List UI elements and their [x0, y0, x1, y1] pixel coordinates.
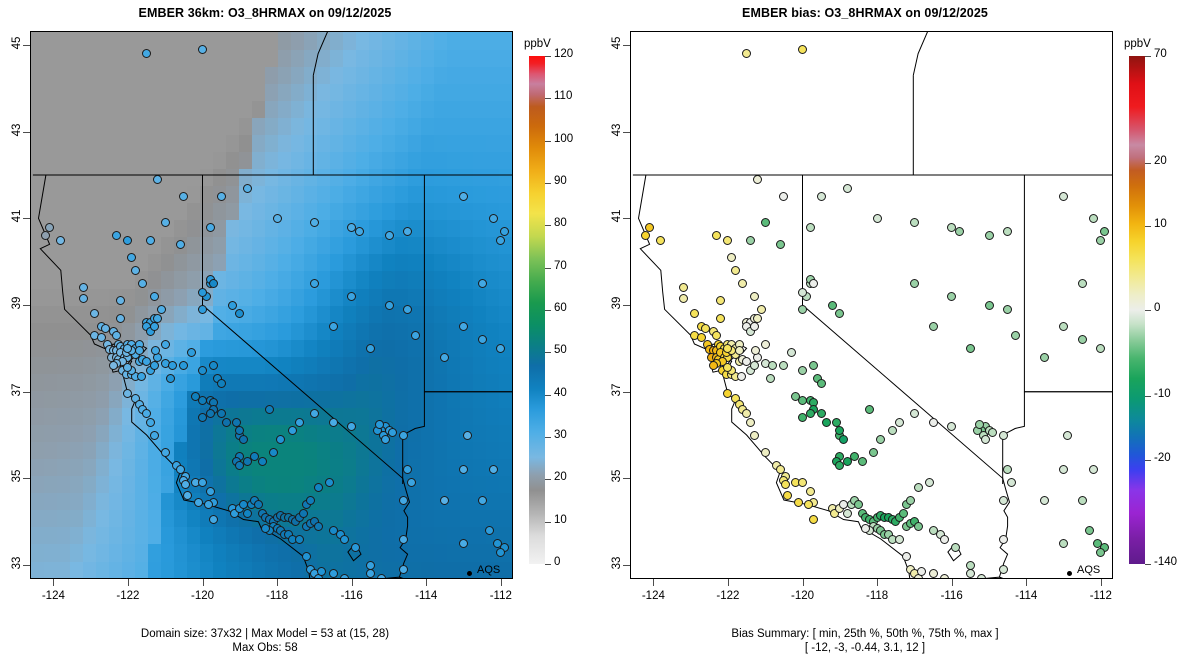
- station-marker[interactable]: [737, 372, 746, 381]
- x-axis-tick-label: -120: [173, 590, 233, 602]
- station-marker[interactable]: [709, 361, 718, 370]
- x-axis-tick: [426, 579, 427, 586]
- station-marker[interactable]: [843, 184, 852, 193]
- station-marker[interactable]: [269, 448, 278, 457]
- station-marker[interactable]: [899, 509, 908, 518]
- colorbar-tick: [545, 225, 551, 226]
- station-marker[interactable]: [329, 418, 338, 427]
- colorbar-tick: [1145, 226, 1151, 227]
- station-marker[interactable]: [198, 288, 207, 297]
- colorbar-tick: [545, 141, 551, 142]
- station-marker[interactable]: [679, 283, 688, 292]
- station-marker[interactable]: [340, 535, 349, 544]
- station-marker[interactable]: [925, 478, 934, 487]
- station-marker[interactable]: [929, 569, 938, 578]
- station-marker[interactable]: [895, 535, 904, 544]
- ca-nv-border: [203, 175, 403, 484]
- station-marker[interactable]: [888, 426, 897, 435]
- map-boundaries-bias: [631, 32, 1112, 578]
- station-marker[interactable]: [985, 301, 994, 310]
- station-marker[interactable]: [232, 418, 241, 427]
- x-axis-tick: [277, 579, 278, 586]
- station-marker[interactable]: [150, 361, 159, 370]
- station-marker[interactable]: [489, 214, 498, 223]
- station-marker[interactable]: [399, 431, 408, 440]
- station-marker[interactable]: [407, 478, 416, 487]
- station-marker[interactable]: [478, 335, 487, 344]
- station-marker[interactable]: [865, 405, 874, 414]
- station-marker[interactable]: [929, 418, 938, 427]
- az-south-border: [999, 577, 1112, 579]
- station-marker[interactable]: [310, 409, 319, 418]
- station-marker[interactable]: [329, 322, 338, 331]
- station-marker[interactable]: [761, 340, 770, 349]
- colorbar-tick: [545, 479, 551, 480]
- station-marker[interactable]: [146, 236, 155, 245]
- station-marker[interactable]: [804, 500, 813, 509]
- station-marker[interactable]: [131, 266, 140, 275]
- colorbar-unit-bias: ppbV: [1124, 38, 1151, 50]
- station-marker[interactable]: [1085, 526, 1094, 535]
- y-axis-tick-label: 33: [11, 543, 23, 583]
- station-marker[interactable]: [194, 498, 203, 507]
- station-marker[interactable]: [757, 305, 766, 314]
- station-marker[interactable]: [1007, 478, 1016, 487]
- station-marker[interactable]: [243, 184, 252, 193]
- station-marker[interactable]: [366, 344, 375, 353]
- x-axis-tick: [803, 579, 804, 586]
- station-marker[interactable]: [228, 301, 237, 310]
- station-marker[interactable]: [347, 422, 356, 431]
- station-marker[interactable]: [217, 409, 226, 418]
- station-marker[interactable]: [347, 292, 356, 301]
- station-marker[interactable]: [440, 496, 449, 505]
- station-marker[interactable]: [157, 305, 166, 314]
- station-marker[interactable]: [127, 253, 136, 262]
- station-marker[interactable]: [314, 522, 323, 531]
- station-marker[interactable]: [975, 420, 984, 429]
- station-marker[interactable]: [399, 535, 408, 544]
- y-axis-tick-label: 39: [11, 283, 23, 323]
- panel-bias: EMBER bias: O3_8HRMAX on 09/12/2025 AQS …: [600, 0, 1200, 672]
- station-marker[interactable]: [873, 214, 882, 223]
- station-marker[interactable]: [150, 322, 159, 331]
- station-marker[interactable]: [1096, 236, 1105, 245]
- station-marker[interactable]: [478, 496, 487, 505]
- station-marker[interactable]: [750, 292, 759, 301]
- station-marker[interactable]: [645, 223, 654, 232]
- station-marker[interactable]: [258, 457, 267, 466]
- station-marker[interactable]: [966, 569, 975, 578]
- station-marker[interactable]: [828, 301, 837, 310]
- station-marker[interactable]: [947, 292, 956, 301]
- colorbar-tick-label: 120: [554, 48, 573, 60]
- station-marker[interactable]: [776, 240, 785, 249]
- y-axis-tick: [623, 45, 630, 46]
- colorbar-tick-label: 110: [554, 90, 572, 102]
- station-marker[interactable]: [750, 322, 759, 331]
- station-marker[interactable]: [895, 418, 904, 427]
- station-marker[interactable]: [45, 223, 54, 232]
- x-axis-tick-label: -112: [1071, 590, 1131, 602]
- station-marker[interactable]: [731, 266, 740, 275]
- station-marker[interactable]: [727, 253, 736, 262]
- aqs-legend-label: AQS: [477, 564, 500, 576]
- colorbar-tick-label: 0: [1154, 302, 1160, 314]
- station-marker[interactable]: [206, 487, 215, 496]
- station-marker[interactable]: [217, 379, 226, 388]
- station-marker[interactable]: [403, 305, 412, 314]
- station-marker[interactable]: [1078, 335, 1087, 344]
- caption-bias-line1: Bias Summary: [ min, 25th %, 50th %, 75t…: [600, 627, 1130, 641]
- map-boundaries-model: [31, 32, 512, 578]
- x-axis-tick: [728, 579, 729, 586]
- station-marker[interactable]: [656, 236, 665, 245]
- colorbar-tick-label: 10: [554, 514, 567, 526]
- station-marker[interactable]: [854, 500, 863, 509]
- station-marker[interactable]: [198, 366, 207, 375]
- colorbar-tick: [1145, 396, 1151, 397]
- station-marker[interactable]: [817, 192, 826, 201]
- nv-ut-border: [1024, 175, 1113, 392]
- y-axis-tick-label: 43: [11, 110, 23, 150]
- station-marker[interactable]: [910, 409, 919, 418]
- station-marker[interactable]: [1096, 548, 1105, 557]
- colorbar-tick: [545, 183, 551, 184]
- station-marker[interactable]: [761, 218, 770, 227]
- station-marker[interactable]: [142, 409, 151, 418]
- y-axis-tick-label: 41: [611, 196, 623, 236]
- y-axis-tick-label: 39: [611, 283, 623, 323]
- x-axis-tick-label: -114: [396, 590, 456, 602]
- y-axis-tick-label: 37: [11, 370, 23, 410]
- station-marker[interactable]: [753, 314, 762, 323]
- station-marker[interactable]: [750, 431, 759, 440]
- x-axis-tick: [53, 579, 54, 586]
- colorado-river: [999, 478, 1009, 577]
- y-axis-tick-label: 35: [611, 456, 623, 496]
- colorbar-tick: [545, 352, 551, 353]
- colorbar-tick-label: -20: [1154, 452, 1171, 464]
- az-south-border: [399, 577, 512, 579]
- station-marker[interactable]: [679, 294, 688, 303]
- station-marker[interactable]: [869, 448, 878, 457]
- station-marker[interactable]: [485, 526, 494, 535]
- station-marker[interactable]: [56, 236, 65, 245]
- station-marker[interactable]: [496, 236, 505, 245]
- colorbar-tick-label: 60: [554, 302, 567, 314]
- colorbar-tick: [545, 56, 551, 57]
- station-marker[interactable]: [999, 431, 1008, 440]
- colorbar-tick: [545, 522, 551, 523]
- station-marker[interactable]: [832, 418, 841, 427]
- colorbar-tick-label: 70: [1154, 48, 1167, 60]
- station-marker[interactable]: [161, 218, 170, 227]
- colorbar-tick-label: 90: [554, 175, 567, 187]
- station-marker[interactable]: [794, 498, 803, 507]
- station-marker[interactable]: [787, 348, 796, 357]
- aqs-legend-dot: [467, 571, 472, 576]
- caption-bias-line2: [ -12, -3, -0.44, 3.1, 12 ]: [600, 641, 1130, 655]
- station-marker[interactable]: [947, 422, 956, 431]
- colorbar-tick: [1145, 310, 1151, 311]
- station-marker[interactable]: [288, 426, 297, 435]
- station-marker[interactable]: [375, 420, 384, 429]
- station-marker[interactable]: [999, 496, 1008, 505]
- x-axis-tick-label: -116: [922, 590, 982, 602]
- x-axis-tick-label: -116: [322, 590, 382, 602]
- panel-title-model: EMBER 36km: O3_8HRMAX on 09/12/2025: [0, 6, 530, 20]
- colorbar-tick: [1145, 564, 1151, 565]
- station-marker[interactable]: [206, 223, 215, 232]
- colorbar-tick-label: 40: [554, 387, 567, 399]
- station-marker[interactable]: [198, 45, 207, 54]
- x-axis-tick: [1101, 579, 1102, 586]
- station-marker[interactable]: [1078, 279, 1087, 288]
- station-marker[interactable]: [746, 418, 755, 427]
- station-marker[interactable]: [381, 435, 390, 444]
- station-marker[interactable]: [914, 522, 923, 531]
- colorbar-model: [529, 56, 545, 564]
- nv-ut-border: [424, 175, 513, 392]
- station-marker[interactable]: [79, 283, 88, 292]
- colorbar-tick-label: 80: [554, 217, 567, 229]
- station-marker[interactable]: [1078, 496, 1087, 505]
- y-axis-tick-label: 35: [11, 456, 23, 496]
- station-marker[interactable]: [966, 561, 975, 570]
- colorbar-tick-label: 100: [554, 133, 573, 145]
- colorbar-tick-label: 20: [1154, 155, 1167, 167]
- map-plot-bias[interactable]: AQS: [630, 31, 1113, 579]
- station-marker[interactable]: [135, 346, 144, 355]
- station-marker[interactable]: [222, 418, 231, 427]
- station-marker[interactable]: [761, 448, 770, 457]
- station-marker[interactable]: [1003, 227, 1012, 236]
- station-marker[interactable]: [817, 409, 826, 418]
- x-axis-tick: [952, 579, 953, 586]
- station-marker[interactable]: [306, 496, 315, 505]
- y-axis-tick: [23, 565, 30, 566]
- station-marker[interactable]: [798, 366, 807, 375]
- station-marker[interactable]: [798, 288, 807, 297]
- station-marker[interactable]: [377, 574, 386, 580]
- panel-model: EMBER 36km: O3_8HRMAX on 09/12/2025 AQS …: [0, 0, 600, 672]
- station-marker[interactable]: [411, 331, 420, 340]
- y-axis-tick: [623, 478, 630, 479]
- station-marker[interactable]: [79, 294, 88, 303]
- station-marker[interactable]: [161, 448, 170, 457]
- x-axis-tick: [203, 579, 204, 586]
- x-axis-tick-label: -122: [698, 590, 758, 602]
- colorbar-tick: [545, 564, 551, 565]
- station-marker[interactable]: [209, 279, 218, 288]
- station-marker[interactable]: [1100, 227, 1109, 236]
- station-marker[interactable]: [150, 292, 159, 301]
- x-axis-tick-label: -118: [847, 590, 907, 602]
- y-axis-tick: [623, 132, 630, 133]
- station-marker[interactable]: [1040, 353, 1049, 362]
- x-axis-tick: [877, 579, 878, 586]
- station-marker[interactable]: [496, 548, 505, 557]
- station-marker[interactable]: [403, 227, 412, 236]
- y-axis-tick-label: 43: [611, 110, 623, 150]
- figure-canvas: EMBER 36km: O3_8HRMAX on 09/12/2025 AQS …: [0, 0, 1200, 672]
- or-id-border-2: [313, 31, 333, 75]
- station-marker[interactable]: [340, 574, 349, 580]
- colorbar-tick: [1145, 460, 1151, 461]
- station-marker[interactable]: [735, 346, 744, 355]
- station-marker[interactable]: [217, 192, 226, 201]
- y-axis-tick: [623, 565, 630, 566]
- caption-model-line2: Max Obs: 58: [0, 641, 530, 655]
- y-axis-tick: [23, 392, 30, 393]
- station-marker[interactable]: [806, 223, 815, 232]
- x-axis-tick-label: -124: [623, 590, 683, 602]
- station-marker[interactable]: [723, 236, 732, 245]
- station-marker[interactable]: [137, 372, 146, 381]
- x-axis-tick: [653, 579, 654, 586]
- station-marker[interactable]: [273, 214, 282, 223]
- ca-nv-border: [803, 175, 1003, 484]
- station-marker[interactable]: [176, 240, 185, 249]
- station-marker[interactable]: [981, 435, 990, 444]
- station-marker[interactable]: [1011, 331, 1020, 340]
- x-axis-tick: [128, 579, 129, 586]
- station-marker[interactable]: [1089, 214, 1098, 223]
- colorbar-tick: [545, 437, 551, 438]
- x-axis-tick-label: -122: [98, 590, 158, 602]
- station-marker[interactable]: [116, 314, 125, 323]
- station-marker[interactable]: [310, 279, 319, 288]
- colorado-river: [399, 478, 409, 577]
- station-marker[interactable]: [153, 314, 162, 323]
- station-marker[interactable]: [187, 348, 196, 357]
- station-marker[interactable]: [906, 496, 915, 505]
- station-marker[interactable]: [1040, 496, 1049, 505]
- station-marker[interactable]: [299, 509, 308, 518]
- map-plot-model[interactable]: AQS: [30, 31, 513, 579]
- station-marker[interactable]: [399, 496, 408, 505]
- station-marker[interactable]: [955, 227, 964, 236]
- x-axis-tick: [352, 579, 353, 586]
- station-marker[interactable]: [910, 279, 919, 288]
- station-marker[interactable]: [742, 409, 751, 418]
- colorbar-tick-label: -140: [1154, 556, 1177, 568]
- y-axis-tick: [23, 478, 30, 479]
- x-axis-tick: [501, 579, 502, 586]
- station-marker[interactable]: [385, 231, 394, 240]
- x-axis-tick-label: -124: [23, 590, 83, 602]
- station-marker[interactable]: [463, 431, 472, 440]
- colorbar-tick-label: 0: [554, 556, 560, 568]
- y-axis-tick-label: 41: [11, 196, 23, 236]
- station-marker[interactable]: [355, 227, 364, 236]
- station-marker[interactable]: [329, 569, 338, 578]
- station-marker[interactable]: [817, 379, 826, 388]
- station-marker[interactable]: [295, 535, 304, 544]
- station-marker[interactable]: [123, 236, 132, 245]
- station-marker[interactable]: [940, 574, 949, 580]
- panel-title-bias: EMBER bias: O3_8HRMAX on 09/12/2025: [600, 6, 1130, 20]
- colorbar-tick: [545, 395, 551, 396]
- station-marker[interactable]: [977, 574, 986, 580]
- station-marker[interactable]: [161, 340, 170, 349]
- colorbar-tick: [545, 268, 551, 269]
- station-marker[interactable]: [1003, 305, 1012, 314]
- station-marker[interactable]: [500, 227, 509, 236]
- station-marker[interactable]: [239, 435, 248, 444]
- x-axis-tick-label: -114: [996, 590, 1056, 602]
- station-marker[interactable]: [798, 45, 807, 54]
- station-marker[interactable]: [985, 231, 994, 240]
- station-marker[interactable]: [999, 535, 1008, 544]
- station-marker[interactable]: [750, 361, 759, 370]
- x-axis-tick-label: -112: [471, 590, 531, 602]
- station-marker[interactable]: [204, 500, 213, 509]
- station-marker[interactable]: [843, 509, 852, 518]
- colorbar-tick: [1145, 56, 1151, 57]
- station-marker[interactable]: [295, 418, 304, 427]
- colorbar-tick-label: 20: [554, 471, 567, 483]
- station-marker[interactable]: [243, 509, 252, 518]
- station-marker[interactable]: [858, 457, 867, 466]
- station-marker[interactable]: [822, 418, 831, 427]
- colorbar-tick: [1145, 163, 1151, 164]
- station-marker[interactable]: [150, 431, 159, 440]
- station-marker[interactable]: [325, 478, 334, 487]
- station-marker[interactable]: [109, 361, 118, 370]
- y-axis-tick-label: 37: [611, 370, 623, 410]
- station-marker[interactable]: [798, 305, 807, 314]
- station-marker[interactable]: [929, 322, 938, 331]
- station-marker[interactable]: [459, 539, 468, 548]
- station-marker[interactable]: [385, 301, 394, 310]
- station-marker[interactable]: [806, 487, 815, 496]
- y-axis-tick-label: 45: [611, 23, 623, 63]
- station-marker[interactable]: [366, 569, 375, 578]
- station-marker[interactable]: [1059, 539, 1068, 548]
- station-marker[interactable]: [839, 435, 848, 444]
- station-marker[interactable]: [940, 535, 949, 544]
- y-axis-tick: [23, 132, 30, 133]
- colorbar-tick-label: -10: [1154, 388, 1171, 400]
- station-marker[interactable]: [146, 418, 155, 427]
- y-axis-tick: [623, 392, 630, 393]
- station-marker[interactable]: [966, 344, 975, 353]
- station-marker[interactable]: [265, 405, 274, 414]
- station-marker[interactable]: [716, 314, 725, 323]
- caption-model-line1: Domain size: 37x32 | Max Model = 53 at (…: [0, 627, 530, 641]
- station-marker[interactable]: [478, 279, 487, 288]
- y-axis-tick-label: 45: [11, 23, 23, 63]
- x-axis-tick-label: -118: [247, 590, 307, 602]
- colorbar-tick: [545, 310, 551, 311]
- station-marker[interactable]: [440, 353, 449, 362]
- station-marker[interactable]: [914, 483, 923, 492]
- station-marker[interactable]: [254, 500, 263, 509]
- station-marker[interactable]: [1063, 431, 1072, 440]
- station-marker[interactable]: [746, 236, 755, 245]
- station-marker[interactable]: [366, 561, 375, 570]
- aqs-legend-dot: [1067, 571, 1072, 576]
- station-marker[interactable]: [314, 483, 323, 492]
- colorbar-tick-label: 70: [554, 260, 567, 272]
- station-marker[interactable]: [198, 305, 207, 314]
- x-axis-tick-label: -120: [773, 590, 833, 602]
- station-marker[interactable]: [809, 279, 818, 288]
- y-axis-tick: [623, 305, 630, 306]
- colorbar-tick-label: 30: [554, 429, 567, 441]
